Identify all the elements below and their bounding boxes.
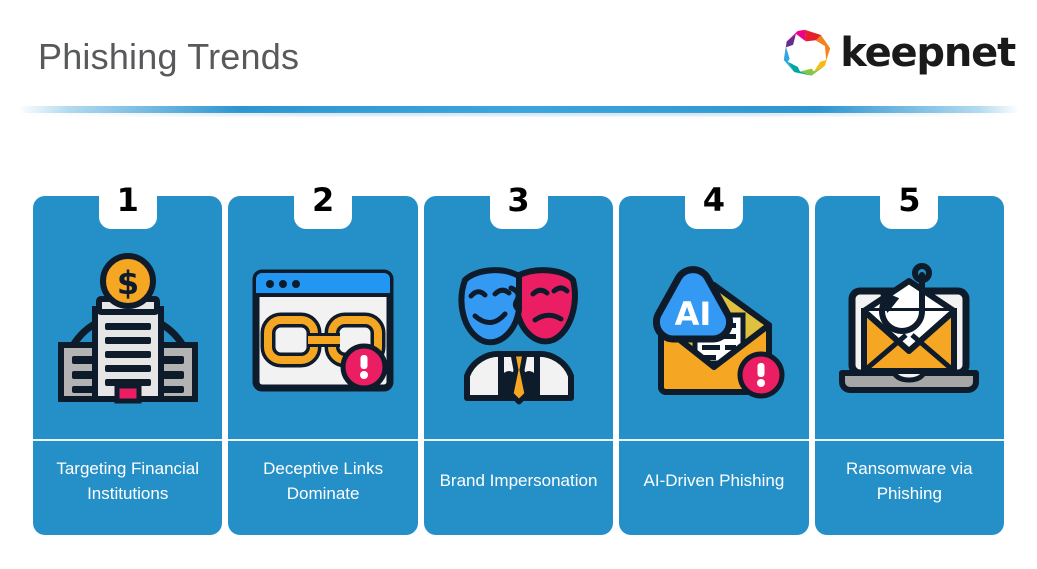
card-icon-3: [424, 196, 613, 439]
trend-cards-row: 1: [33, 196, 1004, 535]
keepnet-hexagon-pinwheel-icon: [778, 24, 836, 82]
svg-text:$: $: [117, 264, 139, 302]
card-number-badge-3: 3: [490, 171, 548, 229]
card-number-badge-4: 4: [685, 171, 743, 229]
page-title: Phishing Trends: [38, 36, 299, 78]
slide-root: Phishing Trends kee: [0, 0, 1037, 569]
trend-card-2[interactable]: 2: [228, 196, 417, 535]
trend-card-5[interactable]: 5 Ransomware via Ph: [815, 196, 1004, 535]
trend-card-4[interactable]: 4 AI: [619, 196, 808, 535]
card-icon-1: $: [33, 196, 222, 439]
brand-wordmark: keepnet: [840, 33, 1015, 73]
card-label-1: Targeting Financial Institutions: [33, 441, 222, 535]
svg-text:AI: AI: [675, 295, 712, 333]
card-icon-4: AI: [619, 196, 808, 439]
card-icon-2: [228, 196, 417, 439]
card-icon-5: [815, 196, 1004, 439]
card-number-badge-5: 5: [880, 171, 938, 229]
ai-badge-envelope-warning-icon: AI: [639, 263, 789, 403]
brand-logo: keepnet: [778, 24, 1015, 82]
card-label-4: AI-Driven Phishing: [619, 441, 808, 535]
bank-building-with-dollar-coin-icon: $: [43, 253, 213, 413]
browser-window-chain-link-warning-icon: [248, 265, 398, 400]
laptop-envelope-fishing-hook-icon: [834, 263, 984, 403]
card-label-3: Brand Impersonation: [424, 441, 613, 535]
slide-header: Phishing Trends kee: [0, 0, 1037, 110]
card-label-2: Deceptive Links Dominate: [228, 441, 417, 535]
card-number-badge-1: 1: [99, 171, 157, 229]
trend-card-3[interactable]: 3: [424, 196, 613, 535]
title-divider-shadow: [18, 112, 1019, 116]
card-label-5: Ransomware via Phishing: [815, 441, 1004, 535]
card-number-badge-2: 2: [294, 171, 352, 229]
trend-card-1[interactable]: 1: [33, 196, 222, 535]
theater-masks-over-suit-icon: [449, 258, 589, 408]
